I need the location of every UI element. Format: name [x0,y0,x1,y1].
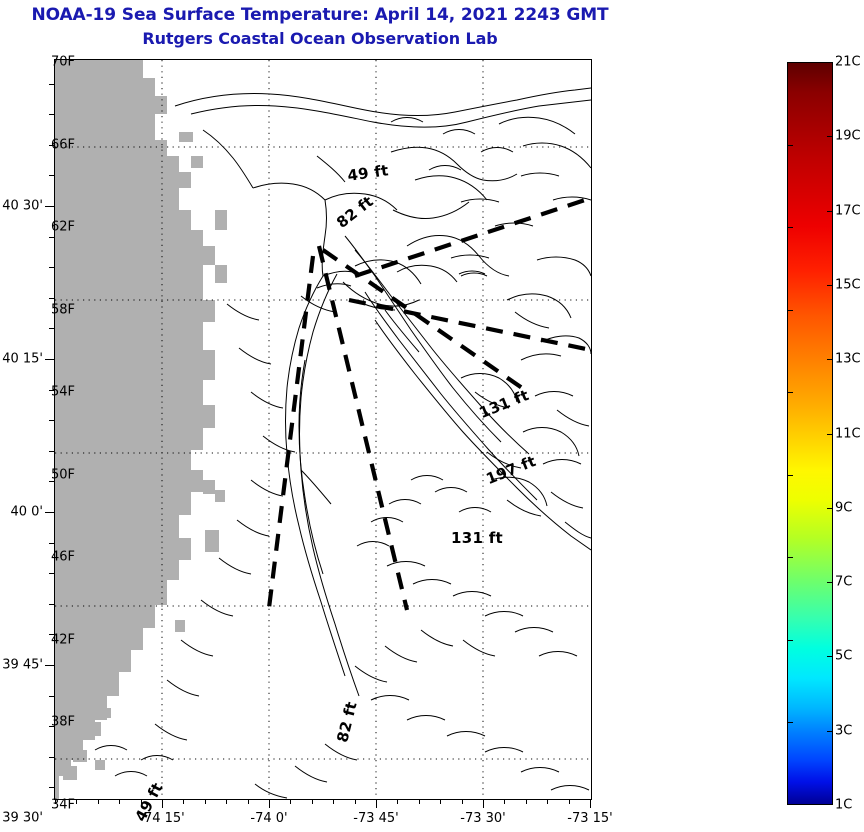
x-axis-major-tick [269,799,270,808]
colorbar-celsius-label: 19C [835,129,861,144]
colorbar-fahrenheit-label: 46F [51,550,75,565]
colorbar-fahrenheit-label: 70F [51,55,75,70]
colorbar-fahrenheit-tick [787,557,793,558]
y-axis-minor-tick [49,114,54,115]
x-axis-minor-tick [312,799,313,804]
colorbar-fahrenheit-tick [787,310,793,311]
y-axis-label: 40 30' [2,199,43,214]
y-axis-major-tick [45,206,54,207]
colorbar-fahrenheit-label: 66F [51,137,75,152]
y-axis-minor-tick [49,451,54,452]
colorbar-celsius-tick [827,582,833,583]
y-axis-label: 39 45' [2,658,43,673]
colorbar-celsius-label: 7C [835,575,852,590]
x-axis-label: -73 45' [353,811,398,826]
colorbar-fahrenheit-label: 54F [51,385,75,400]
y-axis-major-tick [45,665,54,666]
y-axis-minor-tick [49,787,54,788]
y-axis-minor-tick [49,543,54,544]
x-axis-minor-tick [547,799,548,804]
colorbar-fahrenheit-tick [787,227,793,228]
colorbar-celsius-tick [827,508,833,509]
y-axis-label: 40 0' [10,505,43,520]
colorbar-fahrenheit-label: 62F [51,220,75,235]
x-axis-minor-tick [355,799,356,804]
x-axis-minor-tick [290,799,291,804]
colorbar-fahrenheit-tick [787,475,793,476]
colorbar-celsius-tick [827,136,833,137]
y-axis-major-tick [45,359,54,360]
x-axis-minor-tick [205,799,206,804]
x-axis-minor-tick [226,799,227,804]
map-plot-area[interactable] [54,59,592,800]
x-axis-minor-tick [569,799,570,804]
y-axis-label: 40 15' [2,352,43,367]
colorbar-celsius-label: 3C [835,723,852,738]
colorbar-fahrenheit-tick [787,640,793,641]
colorbar-celsius-label: 9C [835,500,852,515]
depth-contour-label: 131 ft [451,529,503,547]
x-axis-major-tick [376,799,377,808]
colorbar-fahrenheit-label: 34F [51,798,75,813]
colorbar-celsius-label: 13C [835,352,861,367]
y-axis-minor-tick [49,420,54,421]
y-axis-minor-tick [49,328,54,329]
x-axis-minor-tick [504,799,505,804]
x-axis-label: -73 15' [567,811,612,826]
x-axis-major-tick [162,799,163,808]
colorbar-celsius-tick [827,656,833,657]
x-axis-minor-tick [76,799,77,804]
colorbar-celsius-label: 17C [835,203,861,218]
x-axis-minor-tick [183,799,184,804]
colorbar-celsius-tick [827,285,833,286]
colorbar-fahrenheit-label: 38F [51,715,75,730]
x-axis-minor-tick [440,799,441,804]
colorbar-celsius-tick [827,731,833,732]
x-axis-minor-tick [419,799,420,804]
x-axis-minor-tick [98,799,99,804]
x-axis-minor-tick [248,799,249,804]
colorbar-celsius-tick [827,359,833,360]
colorbar-fahrenheit-tick [787,145,793,146]
y-axis-major-tick [45,512,54,513]
map-graphics [55,60,591,799]
x-axis-minor-tick [526,799,527,804]
colorbar-fahrenheit-label: 58F [51,302,75,317]
land-mask-layer [55,60,227,799]
sst-map-page: NOAA-19 Sea Surface Temperature: April 1… [0,0,864,832]
x-axis-minor-tick [462,799,463,804]
colorbar-celsius-label: 11C [835,426,861,441]
colorbar-celsius-tick [827,434,833,435]
colorbar-fahrenheit-tick [787,722,793,723]
colorbar-fahrenheit-tick [787,392,793,393]
x-axis-major-tick [483,799,484,808]
y-axis-minor-tick [49,175,54,176]
y-axis-minor-tick [49,267,54,268]
colorbar-fahrenheit-label: 42F [51,632,75,647]
page-title: NOAA-19 Sea Surface Temperature: April 1… [0,4,640,50]
colorbar-celsius-label: 5C [835,649,852,664]
x-axis-label: -73 30' [460,811,505,826]
y-axis-label: 39 30' [2,811,43,826]
colorbar-celsius-tick [827,211,833,212]
swath-line-layer [269,198,591,610]
x-axis-minor-tick [333,799,334,804]
x-axis-major-tick [590,799,591,808]
x-axis-label: -74 0' [250,811,287,826]
title-line-1: NOAA-19 Sea Surface Temperature: April 1… [0,4,640,27]
x-axis-minor-tick [397,799,398,804]
colorbar-fahrenheit-label: 50F [51,467,75,482]
y-axis-minor-tick [49,757,54,758]
title-line-2: Rutgers Coastal Ocean Observation Lab [0,27,640,50]
colorbar-celsius-label: 1C [835,798,852,813]
colorbar-celsius-label: 21C [835,55,861,70]
x-axis-minor-tick [119,799,120,804]
map-canvas [55,60,591,799]
y-axis-minor-tick [49,237,54,238]
y-axis-minor-tick [49,696,54,697]
y-axis-minor-tick [49,604,54,605]
y-axis-minor-tick [49,573,54,574]
y-axis-minor-tick [49,298,54,299]
y-axis-minor-tick [49,84,54,85]
colorbar-celsius-label: 15C [835,277,861,292]
